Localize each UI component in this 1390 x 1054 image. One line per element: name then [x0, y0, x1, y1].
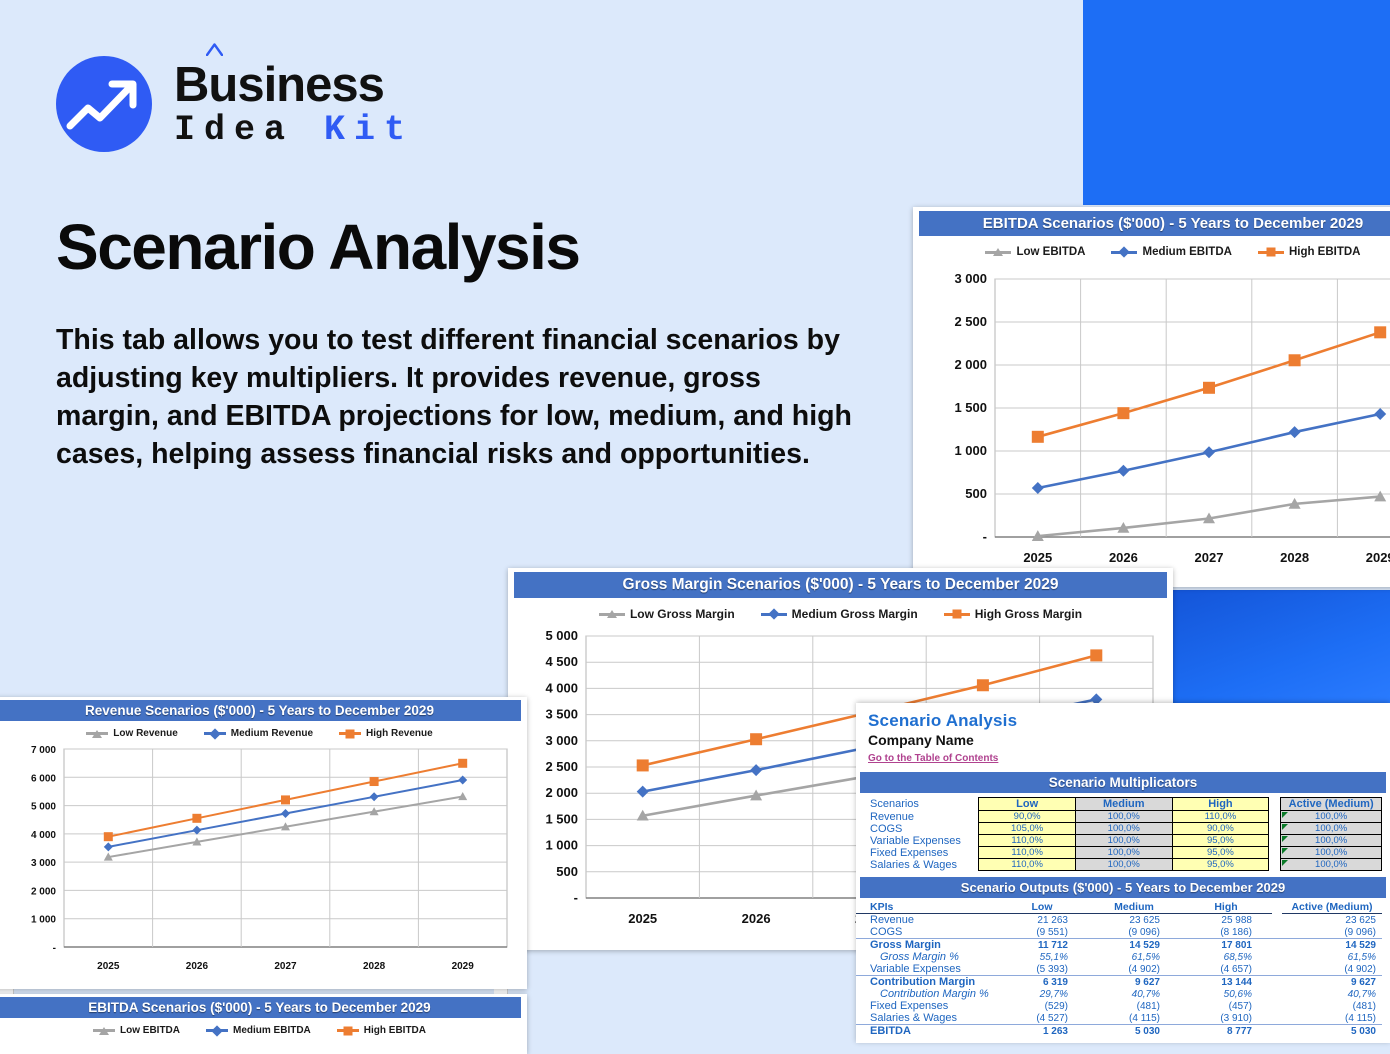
row-label: Contribution Margin % — [856, 988, 996, 1000]
chart-legend-ebitda-bottom: Low EBITDA Medium EBITDA High EBITDA — [0, 1025, 527, 1036]
cell-low[interactable]: 90,0% — [979, 811, 1076, 823]
cell-high: (3 910) — [1180, 1012, 1272, 1025]
svg-text:4 500: 4 500 — [545, 654, 578, 669]
svg-text:2027: 2027 — [1195, 550, 1224, 565]
legend-label-high: High Revenue — [366, 728, 433, 739]
cell-active: 9 627 — [1282, 976, 1382, 989]
cell-low: (4 527) — [996, 1012, 1088, 1025]
multiplicators-band-title: Scenario Multiplicators — [860, 772, 1386, 793]
chart-title-ebitda-top: EBITDA Scenarios ($'000) - 5 Years to De… — [919, 211, 1390, 236]
table-row: EBITDA1 2635 0308 7775 030 — [856, 1025, 1382, 1038]
cell-high[interactable]: 95,0% — [1172, 847, 1269, 859]
spacer-cell — [1269, 847, 1281, 859]
cell-low: 55,1% — [996, 951, 1088, 963]
chart-title-gross-margin: Gross Margin Scenarios ($'000) - 5 Years… — [514, 572, 1167, 598]
square-marker-icon — [944, 613, 970, 616]
output-header-high: High — [1180, 901, 1272, 914]
cell-active[interactable]: 100,0% — [1281, 835, 1382, 847]
svg-text:4 000: 4 000 — [545, 680, 578, 695]
row-label: Variable Expenses — [856, 835, 979, 847]
table-header-row: Scenarios Low Medium High Active (Medium… — [856, 798, 1382, 811]
cell-active: (4 902) — [1282, 963, 1382, 976]
multiplicators-row-header: Scenarios — [856, 798, 979, 811]
legend-item-low: Low EBITDA — [93, 1025, 180, 1036]
legend-label-high: High EBITDA — [1289, 246, 1361, 258]
cell-medium[interactable]: 100,0% — [1075, 835, 1172, 847]
cell-active: (4 115) — [1282, 1012, 1382, 1025]
svg-text:2028: 2028 — [1280, 550, 1309, 565]
kpi-column-header: KPIs — [856, 901, 996, 914]
chart-title-ebitda-bottom: EBITDA Scenarios ($'000) - 5 Years to De… — [0, 997, 521, 1018]
spacer-cell — [1269, 798, 1281, 811]
cell-high: (8 186) — [1180, 926, 1272, 939]
svg-text:2 000: 2 000 — [545, 785, 578, 800]
cell-high[interactable]: 95,0% — [1172, 859, 1269, 871]
svg-text:2029: 2029 — [1366, 550, 1390, 565]
spacer-cell — [1269, 823, 1281, 835]
svg-text:2 500: 2 500 — [545, 759, 578, 774]
legend-label-medium: Medium EBITDA — [1142, 246, 1231, 258]
table-row: Fixed Expenses(529)(481)(457)(481) — [856, 1000, 1382, 1012]
legend-label-low: Low EBITDA — [1016, 246, 1085, 258]
svg-text:1 000: 1 000 — [954, 443, 987, 458]
cell-high[interactable]: 95,0% — [1172, 835, 1269, 847]
svg-text:2 000: 2 000 — [954, 357, 987, 372]
cell-high: (457) — [1180, 1000, 1272, 1012]
svg-text:3 500: 3 500 — [545, 707, 578, 722]
cell-active: 40,7% — [1282, 988, 1382, 1000]
square-marker-icon — [339, 732, 361, 735]
table-row: Gross Margin11 71214 52917 80114 529 — [856, 939, 1382, 952]
spacer-cell — [1272, 951, 1282, 963]
cell-medium: 5 030 — [1088, 1025, 1180, 1038]
cell-low: 29,7% — [996, 988, 1088, 1000]
svg-text:500: 500 — [556, 864, 578, 879]
svg-text:1 500: 1 500 — [954, 400, 987, 415]
row-label: Gross Margin % — [856, 951, 996, 963]
svg-text:1 500: 1 500 — [545, 811, 578, 826]
cell-high: 68,5% — [1180, 951, 1272, 963]
triangle-marker-icon — [93, 1029, 115, 1032]
brand-kit-text: Kit — [324, 110, 414, 150]
table-row: Variable Expenses(5 393)(4 902)(4 657)(4… — [856, 963, 1382, 976]
column-header-medium[interactable]: Medium — [1075, 798, 1172, 811]
cell-low: 11 712 — [996, 939, 1088, 952]
row-label: Contribution Margin — [856, 976, 996, 989]
table-row: COGS(9 551)(9 096)(8 186)(9 096) — [856, 926, 1382, 939]
cell-medium: 61,5% — [1088, 951, 1180, 963]
chart-legend-ebitda-top: Low EBITDA Medium EBITDA High EBITDA — [913, 246, 1390, 258]
legend-label-high: High Gross Margin — [975, 607, 1082, 621]
svg-text:2025: 2025 — [628, 911, 657, 926]
legend-item-medium: Medium Gross Margin — [761, 607, 918, 621]
decorative-blue-block-top — [1083, 0, 1390, 205]
table-row: Salaries & Wages110,0%100,0%95,0%100,0% — [856, 859, 1382, 871]
chart-plot-revenue: -1 0002 0003 0004 0005 0006 0007 0002025… — [0, 741, 527, 989]
cell-active: (481) — [1282, 1000, 1382, 1012]
svg-text:5 000: 5 000 — [31, 802, 56, 813]
svg-text:-: - — [983, 529, 987, 544]
svg-text:2027: 2027 — [274, 961, 297, 972]
row-label: COGS — [856, 823, 979, 835]
row-label: Fixed Expenses — [856, 847, 979, 859]
svg-text:4 000: 4 000 — [31, 830, 56, 841]
legend-item-high: High Revenue — [339, 728, 433, 739]
cell-medium: 23 625 — [1088, 914, 1180, 927]
row-label: Fixed Expenses — [856, 1000, 996, 1012]
legend-item-medium: Medium EBITDA — [206, 1025, 311, 1036]
row-label: Variable Expenses — [856, 963, 996, 976]
legend-item-medium: Medium EBITDA — [1111, 246, 1231, 258]
chart-legend-gross-margin: Low Gross Margin Medium Gross Margin Hig… — [508, 607, 1173, 621]
cell-active[interactable]: 100,0% — [1281, 847, 1382, 859]
table-row: Revenue21 26323 62525 98823 625 — [856, 914, 1382, 927]
panel-title: Scenario Analysis — [868, 711, 1390, 731]
spacer-cell — [1272, 914, 1282, 927]
svg-text:2025: 2025 — [1023, 550, 1052, 565]
spacer-cell — [1272, 976, 1282, 989]
spacer-cell — [1272, 939, 1282, 952]
table-row: Variable Expenses110,0%100,0%95,0%100,0% — [856, 835, 1382, 847]
column-header-active[interactable]: Active (Medium) — [1281, 798, 1382, 811]
legend-label-high: High EBITDA — [364, 1025, 426, 1036]
cell-active[interactable]: 100,0% — [1281, 859, 1382, 871]
svg-text:2025: 2025 — [97, 961, 120, 972]
legend-label-low: Low Revenue — [113, 728, 177, 739]
cell-high[interactable]: 90,0% — [1172, 823, 1269, 835]
table-row: Salaries & Wages(4 527)(4 115)(3 910)(4 … — [856, 1012, 1382, 1025]
brand-name-line1: Business — [174, 61, 414, 110]
legend-item-low: Low Revenue — [86, 728, 177, 739]
cell-medium: (9 096) — [1088, 926, 1180, 939]
scenario-multiplicators-table: Scenarios Low Medium High Active (Medium… — [856, 797, 1382, 871]
cell-medium: 9 627 — [1088, 976, 1180, 989]
cell-low: 6 319 — [996, 976, 1088, 989]
chart-legend-revenue: Low Revenue Medium Revenue High Revenue — [0, 728, 527, 739]
cell-active: 14 529 — [1282, 939, 1382, 952]
table-row: Gross Margin %55,1%61,5%68,5%61,5% — [856, 951, 1382, 963]
cell-medium[interactable]: 100,0% — [1075, 811, 1172, 823]
column-header-low[interactable]: Low — [979, 798, 1076, 811]
table-row: Revenue90,0%100,0%110,0%100,0% — [856, 811, 1382, 823]
diamond-marker-icon — [204, 732, 226, 735]
chart-title-revenue: Revenue Scenarios ($'000) - 5 Years to D… — [0, 700, 521, 721]
growth-arrow-icon — [56, 56, 152, 152]
cell-high[interactable]: 110,0% — [1172, 811, 1269, 823]
cell-high: 25 988 — [1180, 914, 1272, 927]
chart-card-ebitda-bottom: EBITDA Scenarios ($'000) - 5 Years to De… — [0, 994, 527, 1054]
spacer-cell — [1272, 926, 1282, 939]
cell-active: 5 030 — [1282, 1025, 1382, 1038]
brand-idea-text: Idea — [174, 110, 324, 150]
row-label: Salaries & Wages — [856, 859, 979, 871]
cell-medium: (481) — [1088, 1000, 1180, 1012]
row-label: Salaries & Wages — [856, 1012, 996, 1025]
svg-text:3 000: 3 000 — [954, 271, 987, 286]
triangle-marker-icon — [985, 251, 1011, 254]
cell-low: 1 263 — [996, 1025, 1088, 1038]
svg-text:-: - — [53, 943, 56, 954]
svg-text:6 000: 6 000 — [31, 773, 56, 784]
chart-card-revenue: Revenue Scenarios ($'000) - 5 Years to D… — [0, 697, 527, 989]
chart-card-ebitda-top: EBITDA Scenarios ($'000) - 5 Years to De… — [913, 207, 1390, 587]
table-row: Contribution Margin6 3199 62713 1449 627 — [856, 976, 1382, 989]
legend-item-low: Low EBITDA — [985, 246, 1085, 258]
spacer-cell — [1272, 988, 1282, 1000]
cell-active: 61,5% — [1282, 951, 1382, 963]
column-header-high[interactable]: High — [1172, 798, 1269, 811]
spacer-cell — [1272, 901, 1282, 914]
row-label: COGS — [856, 926, 996, 939]
cell-medium[interactable]: 100,0% — [1075, 847, 1172, 859]
spacer-cell — [1269, 835, 1281, 847]
svg-text:2028: 2028 — [363, 961, 386, 972]
row-label: Revenue — [856, 914, 996, 927]
cell-active: 23 625 — [1282, 914, 1382, 927]
decorative-blue-block-middle — [1170, 590, 1390, 705]
svg-text:2026: 2026 — [1109, 550, 1138, 565]
cell-low: 21 263 — [996, 914, 1088, 927]
table-row: Fixed Expenses110,0%100,0%95,0%100,0% — [856, 847, 1382, 859]
cell-high: 13 144 — [1180, 976, 1272, 989]
svg-text:1 000: 1 000 — [31, 915, 56, 926]
legend-item-low: Low Gross Margin — [599, 607, 735, 621]
spacer-cell — [1272, 963, 1282, 976]
svg-text:3 000: 3 000 — [545, 733, 578, 748]
svg-text:1 000: 1 000 — [545, 838, 578, 853]
legend-label-medium: Medium Gross Margin — [792, 607, 918, 621]
svg-text:2 500: 2 500 — [954, 314, 987, 329]
cell-low: (9 551) — [996, 926, 1088, 939]
brand-name-line2: Idea Kit — [174, 113, 414, 148]
diamond-marker-icon — [761, 613, 787, 616]
table-header-row: KPIs Low Medium High Active (Medium) — [856, 901, 1382, 914]
spacer-cell — [1272, 1012, 1282, 1025]
output-header-active: Active (Medium) — [1282, 901, 1382, 914]
cell-high: (4 657) — [1180, 963, 1272, 976]
table-row: Contribution Margin %29,7%40,7%50,6%40,7… — [856, 988, 1382, 1000]
legend-item-medium: Medium Revenue — [204, 728, 313, 739]
svg-text:2 000: 2 000 — [31, 886, 56, 897]
cell-active[interactable]: 100,0% — [1281, 811, 1382, 823]
svg-text:2026: 2026 — [742, 911, 771, 926]
scenario-outputs-table: KPIs Low Medium High Active (Medium) Rev… — [856, 901, 1382, 1037]
output-header-low: Low — [996, 901, 1088, 914]
spacer-cell — [1272, 1000, 1282, 1012]
svg-text:3 000: 3 000 — [31, 858, 56, 869]
row-label: Gross Margin — [856, 939, 996, 952]
svg-text:500: 500 — [965, 486, 987, 501]
legend-item-high: High EBITDA — [1258, 246, 1361, 258]
page-title: Scenario Analysis — [56, 210, 580, 284]
cell-low[interactable]: 105,0% — [979, 823, 1076, 835]
row-label: Revenue — [856, 811, 979, 823]
outputs-band-title: Scenario Outputs ($'000) - 5 Years to De… — [860, 877, 1386, 898]
output-header-medium: Medium — [1088, 901, 1180, 914]
svg-text:7 000: 7 000 — [31, 745, 56, 756]
cell-medium: 14 529 — [1088, 939, 1180, 952]
brand-logo: Business Idea Kit — [56, 56, 414, 152]
cell-low: (5 393) — [996, 963, 1088, 976]
cell-high: 17 801 — [1180, 939, 1272, 952]
svg-text:-: - — [574, 890, 578, 905]
cell-medium[interactable]: 100,0% — [1075, 859, 1172, 871]
cell-medium: (4 902) — [1088, 963, 1180, 976]
cell-low[interactable]: 110,0% — [979, 859, 1076, 871]
table-of-contents-link[interactable]: Go to the Table of Contents — [868, 753, 998, 764]
cell-high: 50,6% — [1180, 988, 1272, 1000]
legend-item-high: High EBITDA — [337, 1025, 426, 1036]
cell-high: 8 777 — [1180, 1025, 1272, 1038]
cell-medium[interactable]: 100,0% — [1075, 823, 1172, 835]
cell-low: (529) — [996, 1000, 1088, 1012]
svg-text:2029: 2029 — [452, 961, 475, 972]
cell-low[interactable]: 110,0% — [979, 835, 1076, 847]
legend-label-low: Low Gross Margin — [630, 607, 735, 621]
legend-label-low: Low EBITDA — [120, 1025, 180, 1036]
spacer-cell — [1269, 859, 1281, 871]
diamond-marker-icon — [206, 1029, 228, 1032]
row-label: EBITDA — [856, 1025, 996, 1038]
svg-text:5 000: 5 000 — [545, 628, 578, 643]
cell-low[interactable]: 110,0% — [979, 847, 1076, 859]
spacer-cell — [1269, 811, 1281, 823]
cell-active[interactable]: 100,0% — [1281, 823, 1382, 835]
triangle-marker-icon — [86, 732, 108, 735]
caret-accent-icon — [206, 43, 223, 56]
page-description: This tab allows you to test different fi… — [56, 322, 856, 474]
legend-item-high: High Gross Margin — [944, 607, 1082, 621]
square-marker-icon — [1258, 251, 1284, 254]
svg-text:2026: 2026 — [186, 961, 209, 972]
spacer-cell — [1272, 1025, 1282, 1038]
triangle-marker-icon — [599, 613, 625, 616]
diamond-marker-icon — [1111, 251, 1137, 254]
square-marker-icon — [337, 1029, 359, 1032]
panel-company-name: Company Name — [868, 732, 1390, 748]
scenario-analysis-panel: Scenario Analysis Company Name Go to the… — [856, 703, 1390, 1043]
cell-active: (9 096) — [1282, 926, 1382, 939]
table-row: COGS105,0%100,0%90,0%100,0% — [856, 823, 1382, 835]
cell-medium: (4 115) — [1088, 1012, 1180, 1025]
legend-label-medium: Medium EBITDA — [233, 1025, 311, 1036]
chart-plot-ebitda-top: -5001 0001 5002 0002 5003 00020252026202… — [913, 269, 1390, 587]
cell-medium: 40,7% — [1088, 988, 1180, 1000]
legend-label-medium: Medium Revenue — [231, 728, 313, 739]
